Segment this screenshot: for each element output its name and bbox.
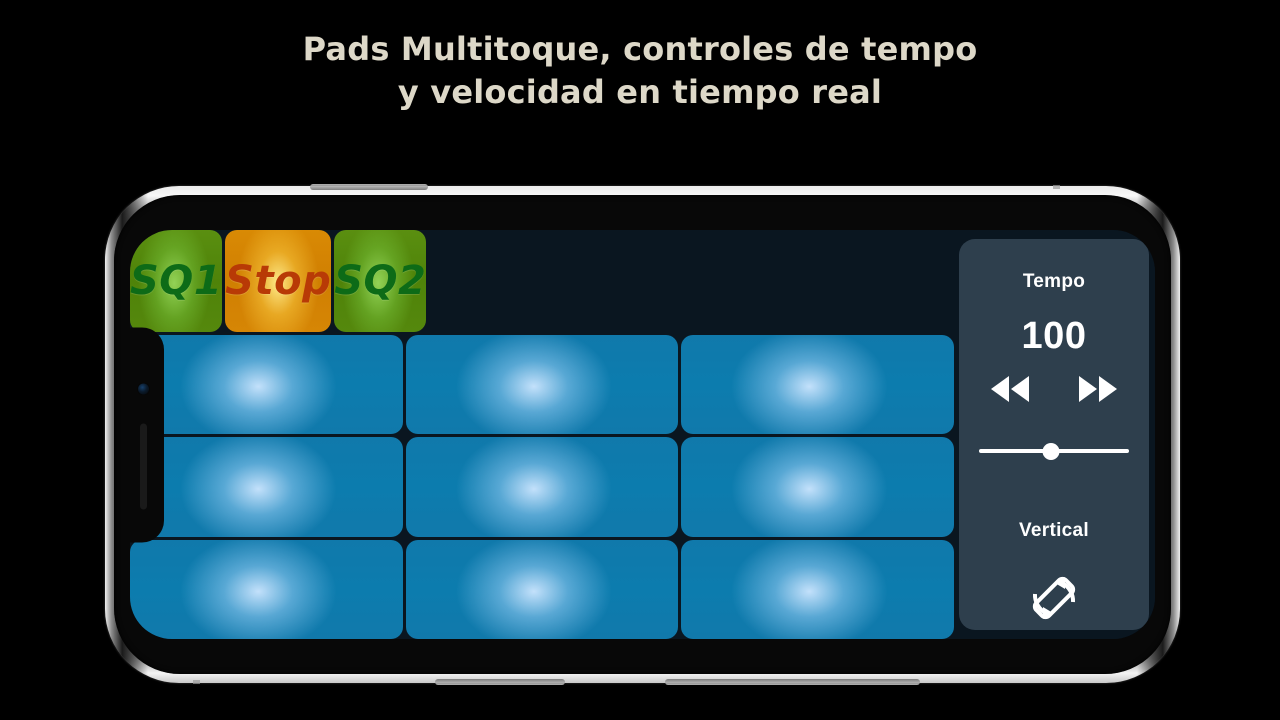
sequence-2-label: SQ2 xyxy=(334,258,426,304)
screen-rotation-icon[interactable] xyxy=(1022,566,1086,630)
front-camera-icon xyxy=(138,383,149,394)
pad-3[interactable] xyxy=(681,335,954,434)
volume-up-button[interactable] xyxy=(435,679,565,685)
fast-forward-icon[interactable] xyxy=(1075,374,1121,404)
tempo-controls xyxy=(959,374,1149,404)
stop-label: Stop xyxy=(225,258,331,304)
page-title-line-2: y velocidad en tiempo real xyxy=(0,71,1280,114)
antenna-line-left xyxy=(193,680,200,684)
tempo-slider-thumb[interactable] xyxy=(1043,443,1060,460)
volume-down-button[interactable] xyxy=(665,679,920,685)
pad-5[interactable] xyxy=(406,437,679,536)
pad-grid: SQ1 Stop SQ2 xyxy=(130,230,954,639)
pad-row-3 xyxy=(130,540,954,639)
pad-row-1 xyxy=(130,335,954,434)
pad-2[interactable] xyxy=(406,335,679,434)
tempo-value: 100 xyxy=(1022,315,1087,358)
pad-9[interactable] xyxy=(681,540,954,639)
tempo-label: Tempo xyxy=(1023,271,1085,293)
phone-mockup: SQ1 Stop SQ2 xyxy=(105,186,1180,683)
pad-8[interactable] xyxy=(406,540,679,639)
pad-row-2 xyxy=(130,437,954,536)
phone-notch xyxy=(130,327,164,542)
pad-4[interactable] xyxy=(130,437,403,536)
sequence-2-button[interactable]: SQ2 xyxy=(334,230,426,332)
phone-screen: SQ1 Stop SQ2 xyxy=(130,230,1155,639)
antenna-line-right xyxy=(1053,185,1060,189)
sequence-1-label: SQ1 xyxy=(130,258,222,304)
rewind-icon[interactable] xyxy=(987,374,1033,404)
pad-6[interactable] xyxy=(681,437,954,536)
side-panel-wrapper: Tempo 100 xyxy=(954,230,1155,639)
pad-1[interactable] xyxy=(130,335,403,434)
pad-7[interactable] xyxy=(130,540,403,639)
orientation-label: Vertical xyxy=(1019,520,1089,542)
page-title: Pads Multitoque, controles de tempo y ve… xyxy=(0,28,1280,114)
tempo-slider[interactable] xyxy=(979,440,1129,462)
tempo-panel: Tempo 100 xyxy=(959,239,1149,630)
page-title-line-1: Pads Multitoque, controles de tempo xyxy=(0,28,1280,71)
pad-row-controls: SQ1 Stop SQ2 xyxy=(130,230,954,332)
power-button[interactable] xyxy=(310,184,428,190)
sequence-1-button[interactable]: SQ1 xyxy=(130,230,222,332)
drum-pad-app: SQ1 Stop SQ2 xyxy=(130,230,1155,639)
earpiece-speaker xyxy=(140,423,147,509)
stop-button[interactable]: Stop xyxy=(225,230,331,332)
